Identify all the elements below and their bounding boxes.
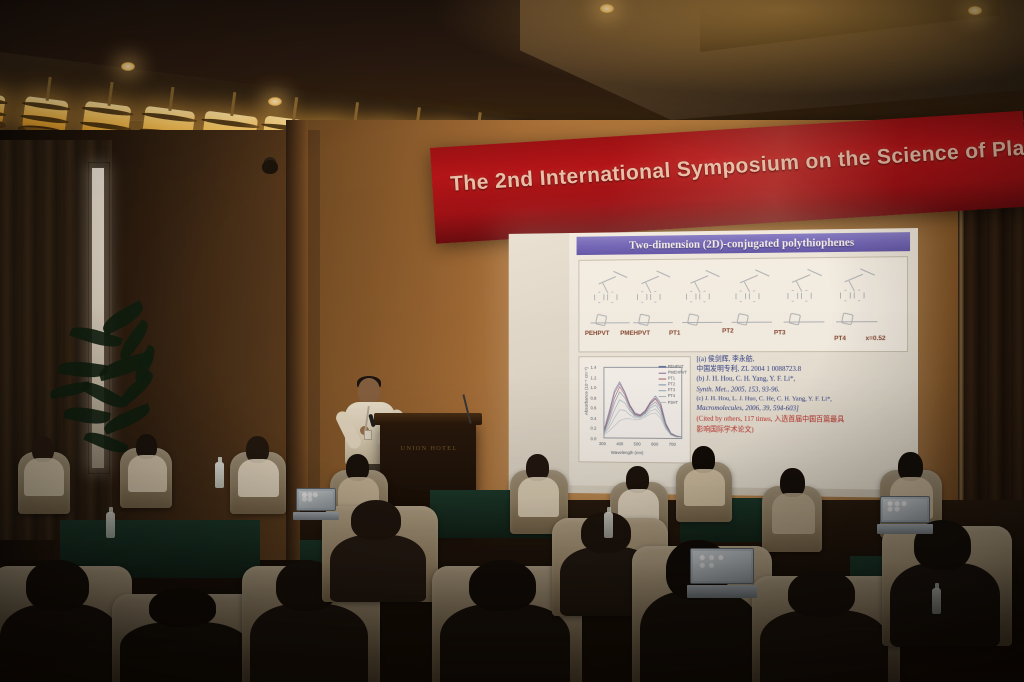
thiophene-ring (686, 291, 696, 303)
person-torso (772, 493, 815, 534)
plant-leaf (49, 381, 90, 398)
alkyl-chain (690, 275, 708, 283)
audience-member (120, 588, 250, 682)
curtain-rod (958, 160, 964, 530)
chart-xtick-label: 500 (634, 442, 641, 447)
legend-swatch (658, 366, 666, 367)
molecule-structure (680, 265, 724, 328)
alkoxy-link (694, 282, 700, 293)
person-torso (120, 622, 250, 682)
chart-ytick-label: 1.2 (590, 375, 596, 380)
chart-legend-item: P3HT (658, 400, 687, 406)
ceiling-downlight (268, 97, 282, 106)
alkyl-chain (792, 274, 810, 282)
lamp-band (201, 117, 260, 130)
cited-note: (Cited by others, 117 times, 入选首届中国百篇最具 … (696, 414, 908, 436)
structure-label-pt3: PT3 (774, 329, 786, 336)
alkoxy-link (744, 282, 750, 293)
legend-swatch (658, 372, 666, 373)
slide-title-bar: Two-dimension (2D)-conjugated polythioph… (577, 232, 910, 255)
ceiling-downlight (600, 4, 614, 13)
alkyl-chain (740, 275, 758, 283)
chart-ytick-label: 1.0 (590, 385, 596, 390)
person-torso (684, 469, 725, 506)
laptop-keyboard (293, 512, 339, 520)
lamp-stem (107, 82, 113, 106)
legend-label: P3HT (668, 400, 678, 406)
laptop-screen (880, 496, 930, 523)
molecule-structure (834, 263, 879, 327)
audience-member (330, 500, 426, 596)
structure-label-pt4: PT4 (834, 335, 846, 342)
plant-leaf (63, 403, 111, 427)
legend-swatch (658, 402, 666, 403)
thiophene-ring (736, 313, 749, 326)
lamp-band (0, 95, 8, 106)
thiophene-ring (594, 291, 604, 303)
audience-member (890, 520, 1000, 640)
person-torso (238, 459, 279, 497)
legend-swatch (658, 396, 666, 397)
structure-label-x-value: x=0.52 (866, 335, 886, 342)
alkyl-chain (598, 276, 616, 284)
audience-member (762, 486, 822, 552)
chart-ytick-label: 0.4 (590, 416, 596, 421)
thiophene-ring (841, 312, 854, 325)
benzene-ring (801, 290, 812, 302)
alkoxy-link (645, 282, 651, 293)
thiophene-ring (637, 291, 647, 303)
person-torso (440, 604, 570, 682)
laptop-desktop-icons (693, 551, 751, 581)
audience-member (0, 560, 120, 682)
water-bottle (106, 512, 115, 538)
benzene-ring (749, 290, 760, 302)
polymer-bond (633, 322, 672, 323)
chemical-structures-panel: PEHPVT PMEHPVT PT1 PT2 PT3 PT4 x=0.52 (578, 256, 908, 352)
benzene-ring (607, 291, 617, 303)
chart-xtick-label: 400 (616, 441, 623, 446)
person-torso (128, 455, 167, 492)
lamp-stem (230, 92, 236, 116)
benzene-ring (650, 291, 660, 303)
molecule-structure (730, 265, 774, 328)
pendant-lamp (0, 91, 6, 126)
lamp-stem (169, 87, 175, 111)
absorbance-spectrum-chart: Absorbance (10⁻⁵ cm⁻¹) Wavelength (nm) 0… (578, 356, 690, 463)
audience-member (440, 560, 570, 682)
chart-xtick-label: 600 (651, 442, 658, 447)
audience-member (230, 452, 286, 514)
chart-ytick-label: 1.4 (590, 365, 596, 370)
person-torso (518, 477, 559, 517)
person-torso (24, 458, 64, 496)
water-bottle (932, 588, 941, 614)
lectern-top (374, 413, 482, 425)
person-torso (640, 591, 760, 682)
lamp-band (20, 113, 69, 124)
chart-ytick-label: 0.0 (590, 436, 596, 441)
laptop-screen (296, 488, 336, 511)
laptop-screen (690, 548, 754, 584)
structure-label-pehpvt: PEHPVT (585, 330, 609, 337)
legend-swatch (658, 390, 666, 391)
alkyl-chain (844, 274, 863, 283)
laptop-computer (690, 548, 754, 598)
benzene-ring (854, 289, 865, 301)
chart-xtick-label: 300 (599, 441, 606, 446)
alkoxy-link (849, 281, 855, 292)
polymer-bond (836, 321, 877, 322)
presenter-name-badge (364, 430, 372, 440)
thiophene-ring (687, 313, 699, 326)
structure-label-pt1: PT1 (669, 330, 680, 337)
chart-legend: PEHPVTPMEHPVTPT1PT2PT3PT4P3HT (658, 364, 687, 406)
lamp-band (22, 100, 71, 111)
legend-swatch (658, 384, 666, 385)
audience-member (120, 448, 172, 508)
laptop-computer (296, 488, 336, 520)
ceiling-downlight (121, 62, 135, 71)
ceiling-downlight (968, 6, 982, 15)
cited-note-line-2: 影响国际学术论文) (696, 424, 908, 436)
polymer-bond (784, 321, 825, 322)
molecule-structure (589, 266, 632, 328)
alkyl-chain (641, 276, 659, 284)
laptop-computer (880, 496, 930, 534)
molecule-structure (631, 266, 674, 329)
audience-member (760, 570, 888, 682)
lamp-rim (0, 114, 7, 130)
slide-references: [(a) 侯剑辉, 李永舫, 中国发明专利, ZL 2004 1 0088723… (696, 354, 908, 436)
reference-line: 中国发明专利, ZL 2004 1 0088723.8 (696, 364, 908, 374)
lamp-band (0, 106, 7, 117)
molecule-structure (782, 264, 827, 328)
laptop-desktop-icons (299, 491, 333, 508)
structure-label-pmehpvt: PMEHPVT (620, 330, 650, 337)
polymer-bond (590, 322, 629, 323)
alkoxy-link (796, 281, 802, 292)
conference-hall-photo: The 2nd International Symposium on the S… (0, 0, 1024, 682)
thiophene-ring (787, 290, 798, 302)
chart-ylabel: Absorbance (10⁻⁵ cm⁻¹) (584, 366, 590, 416)
audience-member (18, 452, 70, 514)
lamp-stem (46, 77, 52, 101)
laptop-keyboard (687, 585, 757, 598)
water-bottle (215, 462, 224, 488)
slide-title: Two-dimension (2D)-conjugated polythioph… (629, 236, 854, 251)
chart-xlabel: Wavelength (nm) (611, 450, 644, 455)
alkoxy-link (602, 283, 608, 294)
person-torso (250, 604, 368, 682)
thiophene-ring (638, 313, 650, 326)
polymer-bond (732, 322, 772, 323)
security-camera-icon (262, 160, 278, 174)
person-torso (890, 563, 1000, 647)
laptop-keyboard (877, 524, 933, 534)
water-bottle (604, 512, 613, 538)
presentation-slide: Two-dimension (2D)-conjugated polythioph… (569, 228, 918, 490)
lamp-stem (292, 97, 298, 121)
laptop-desktop-icons (883, 499, 927, 520)
lamp-band (141, 111, 197, 123)
reference-line: Macromolecules, 2006, 39, 594-603] (696, 403, 908, 414)
lectern-hotel-plate: UNION HOTEL (392, 442, 466, 454)
legend-swatch (658, 378, 666, 379)
person-torso (330, 535, 426, 602)
thiophene-ring (840, 290, 851, 302)
benzene-ring (699, 291, 709, 303)
thiophene-ring (788, 313, 801, 326)
audience-member (676, 462, 732, 522)
thiophene-ring (595, 314, 607, 327)
reference-line: (b) J. H. Hou, C. H. Yang, Y. F. Li*, (696, 374, 908, 384)
person-torso (0, 604, 120, 682)
chart-ytick-label: 0.8 (590, 396, 596, 401)
reference-line: [(a) 侯剑辉, 李永舫, (696, 354, 908, 364)
chart-ytick-label: 0.2 (590, 426, 596, 431)
thiophene-ring (735, 290, 746, 302)
lamp-band (82, 106, 135, 118)
person-torso (760, 610, 888, 682)
polymer-bond (682, 322, 722, 323)
reference-line: Synth. Met., 2005, 153, 93-96. (696, 384, 908, 395)
presenter-head (358, 378, 380, 404)
chart-xtick-label: 700 (669, 442, 676, 447)
chart-ytick-label: 0.6 (590, 406, 596, 411)
structure-label-pt2: PT2 (722, 328, 734, 335)
